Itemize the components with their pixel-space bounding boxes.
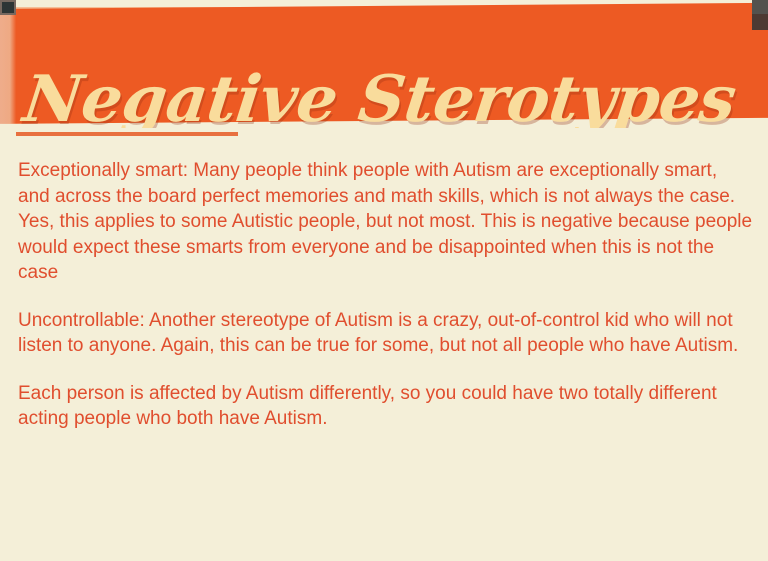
slide-canvas: Negative Sterotypes Exceptionally smart:…: [0, 0, 768, 561]
top-right-corner-chip-icon: [752, 0, 768, 30]
body-content: Exceptionally smart: Many people think p…: [18, 158, 754, 432]
top-left-corner-chip-icon: [0, 0, 16, 15]
paragraph-uncontrollable: Uncontrollable: Another stereotype of Au…: [18, 308, 754, 359]
title-banner: Negative Sterotypes: [0, 0, 768, 128]
title-divider: [16, 132, 238, 136]
paragraph-each-person: Each person is affected by Autism differ…: [18, 381, 754, 432]
page-title: Negative Sterotypes: [19, 59, 729, 128]
paragraph-exceptionally-smart: Exceptionally smart: Many people think p…: [18, 158, 754, 286]
